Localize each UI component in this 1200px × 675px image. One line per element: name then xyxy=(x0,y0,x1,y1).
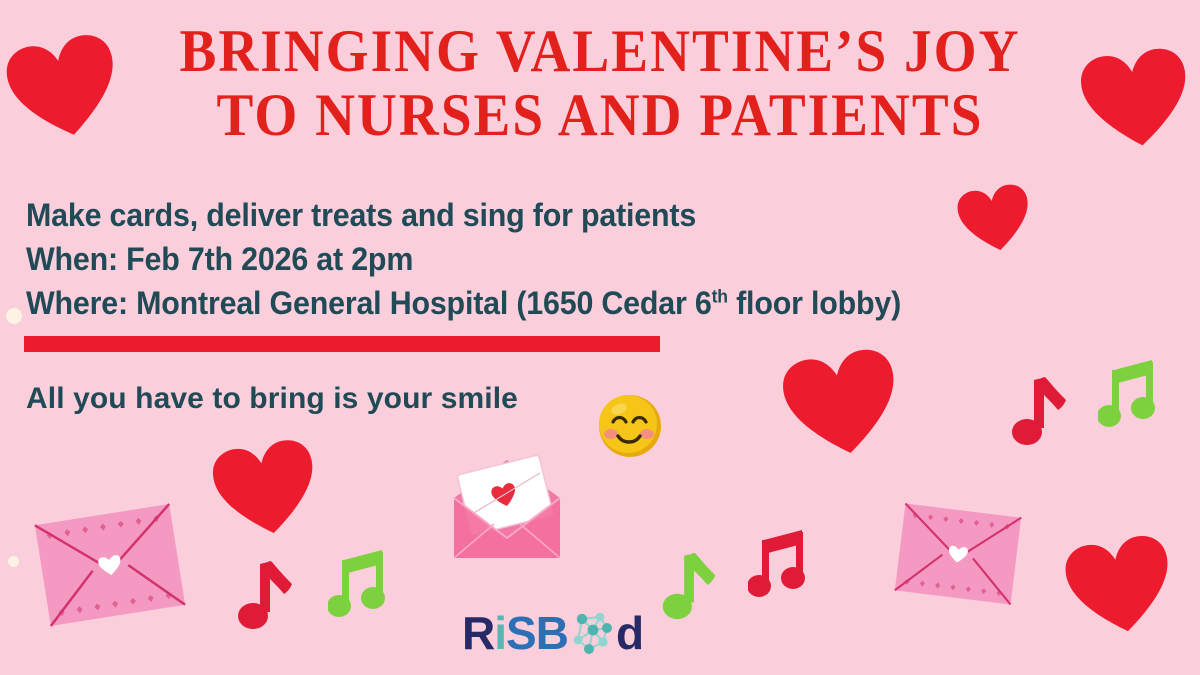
logo-letter-s: S xyxy=(506,610,536,656)
event-details: Make cards, deliver treats and sing for … xyxy=(26,193,901,325)
detail-where-tail: floor lobby) xyxy=(728,285,901,321)
logo-letter-r: R xyxy=(462,610,494,656)
red-divider-rule xyxy=(24,336,660,352)
risbod-logo: R i S B d xyxy=(462,607,643,659)
content-layer: BRINGING VALENTINE’S JOY TO NURSES AND P… xyxy=(0,0,1200,675)
logo-letter-d: d xyxy=(616,610,643,656)
poster-title: BRINGING VALENTINE’S JOY TO NURSES AND P… xyxy=(48,20,1152,147)
detail-where-ordinal: th xyxy=(712,285,728,306)
detail-activity: Make cards, deliver treats and sing for … xyxy=(26,193,901,237)
logo-letter-b: B xyxy=(536,610,568,656)
detail-where-prefix: Where: Montreal General Hospital (1650 C… xyxy=(26,285,712,321)
poster-tagline: All you have to bring is your smile xyxy=(26,382,518,416)
detail-where: Where: Montreal General Hospital (1650 C… xyxy=(26,281,901,325)
logo-molecule-network-icon xyxy=(569,610,615,656)
logo-letter-i: i xyxy=(494,610,506,656)
detail-when: When: Feb 7th 2026 at 2pm xyxy=(26,237,901,281)
valentines-event-poster: BRINGING VALENTINE’S JOY TO NURSES AND P… xyxy=(0,0,1200,675)
